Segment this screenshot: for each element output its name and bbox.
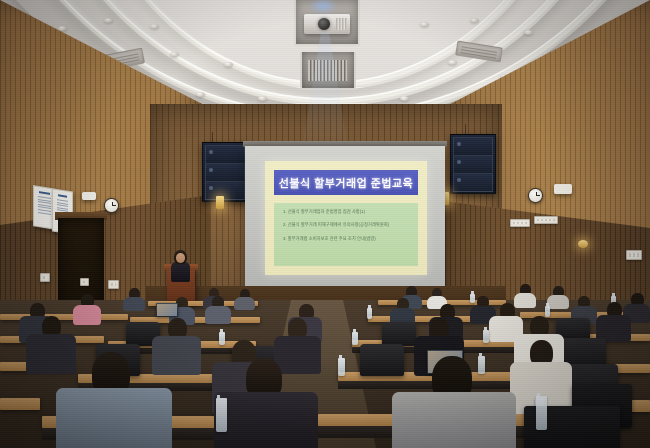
- wall-outlet[interactable]: [80, 278, 89, 286]
- downlight-icon: [470, 18, 479, 23]
- speaker-cable: [212, 132, 213, 142]
- projector-lens-icon: [318, 18, 330, 30]
- left-speaker: [202, 142, 248, 202]
- downlight-icon: [258, 96, 267, 101]
- right-speaker: [450, 134, 496, 194]
- downlight-icon: [104, 18, 113, 23]
- wall-outlet[interactable]: [108, 280, 119, 289]
- downlight-icon: [524, 30, 533, 35]
- water-bottle: [478, 356, 485, 374]
- projector-recess: [294, 0, 360, 46]
- water-bottle: [219, 332, 225, 345]
- downlight-icon: [58, 26, 67, 31]
- water-bottle: [338, 358, 345, 376]
- wall-outlet[interactable]: [626, 250, 642, 260]
- slide-body: 1. 선불식 할부거래업자 준법영업 점검 사항(1) 2. 선불식 할부거래 …: [274, 203, 418, 266]
- downlight-icon: [170, 52, 179, 57]
- presenter-body: [171, 262, 190, 282]
- vent-grille-icon: [308, 60, 348, 81]
- slide-bullet: 2. 선불식 할부거래 피해구제에서 유의사항(공정거래위원회): [283, 223, 411, 227]
- ceiling-return-vent: [300, 52, 356, 90]
- projector-vent-icon: [336, 18, 347, 30]
- projector-icon: [304, 14, 350, 34]
- water-bottle: [483, 330, 489, 343]
- downlight-icon: [420, 22, 429, 27]
- wall-outlet[interactable]: [40, 273, 50, 282]
- slide-title-bar: 선불식 할부거래업 준법교육: [274, 170, 418, 195]
- projector-glow: [308, 0, 338, 14]
- wall-vent-strip: [534, 216, 558, 224]
- wall-light-fixture: [82, 192, 96, 200]
- wall-clock-icon: [528, 188, 543, 203]
- wall-sconce-icon: [216, 196, 224, 209]
- chair: [360, 344, 404, 376]
- laptop-screen: [156, 303, 178, 317]
- slide-bullet: 1. 선불식 할부거래업자 준법영업 점검 사항(1): [283, 210, 411, 214]
- wall-clock-icon: [104, 198, 119, 213]
- downlight-icon: [196, 92, 205, 97]
- water-bottle: [352, 332, 358, 345]
- downlight-icon: [448, 60, 457, 65]
- water-bottle: [367, 308, 372, 319]
- water-bottle: [216, 398, 227, 432]
- wall-vent-strip: [510, 219, 530, 227]
- speaker-cable: [465, 124, 466, 134]
- chair: [382, 322, 416, 346]
- lecture-hall-photo: 선불식 할부거래업 준법교육 1. 선불식 할부거래업자 준법영업 점검 사항(…: [0, 0, 650, 448]
- presenter-head: [176, 253, 185, 263]
- downlight-icon: [400, 96, 409, 101]
- desk-row-e: [0, 398, 40, 410]
- recessed-wall-light-icon: [578, 240, 588, 248]
- presentation-slide: 선불식 할부거래업 준법교육 1. 선불식 할부거래업자 준법영업 점검 사항(…: [265, 161, 427, 275]
- water-bottle: [545, 306, 550, 317]
- water-bottle: [536, 396, 547, 430]
- downlight-icon: [224, 62, 233, 67]
- water-bottle: [470, 294, 475, 303]
- downlight-icon: [150, 24, 159, 29]
- projection-screen: 선불식 할부거래업 준법교육 1. 선불식 할부거래업자 준법영업 점검 사항(…: [245, 146, 445, 294]
- wall-light-fixture: [554, 184, 572, 194]
- slide-bullet: 3. 할부거래법 소비자보호 관련 주요 조치 안내(법령): [283, 237, 411, 241]
- slide-title-text: 선불식 할부거래업 준법교육: [279, 175, 414, 191]
